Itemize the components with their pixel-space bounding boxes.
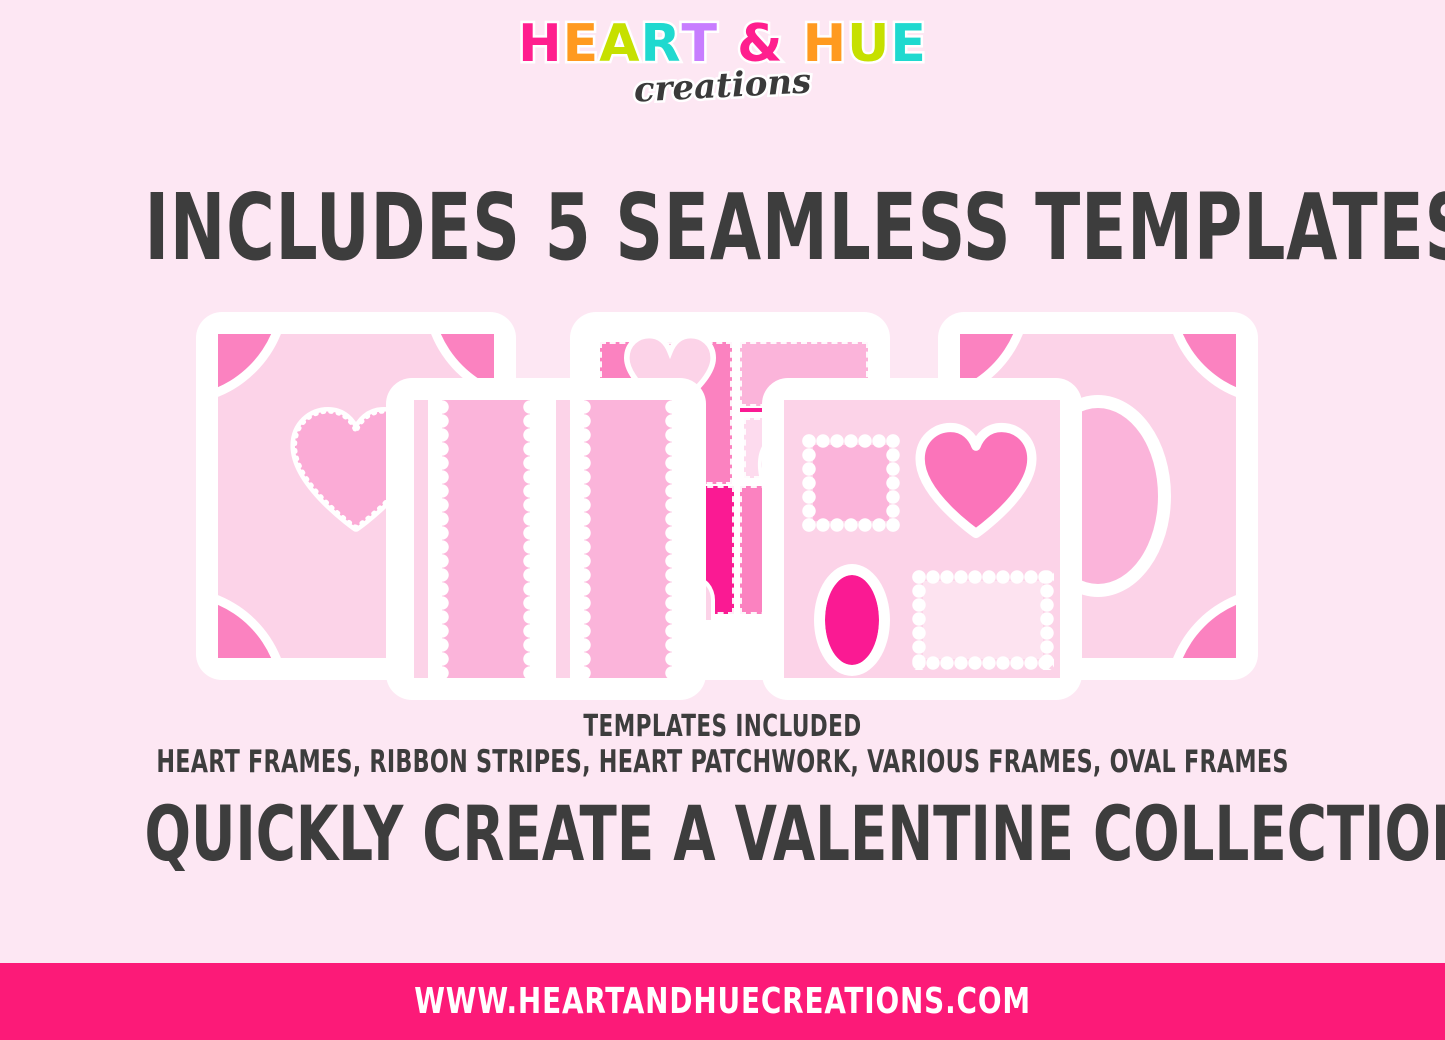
ribbon-stripe xyxy=(442,400,530,678)
call-to-action-text: QUICKLY CREATE A VALENTINE COLLECTION! xyxy=(145,796,1301,872)
templates-included-list: HEART FRAMES, RIBBON STRIPES, HEART PATC… xyxy=(145,747,1301,778)
footer-bar: WWW.HEARTANDHUECREATIONS.COM xyxy=(0,963,1445,1040)
poster-canvas: HEART & HUE creations INCLUDES 5 SEAMLES… xyxy=(0,0,1445,1040)
card-art-various-frames xyxy=(784,400,1060,678)
oval-scallop-ring xyxy=(814,564,890,676)
template-preview-group xyxy=(0,300,1445,700)
corner-shape xyxy=(1174,596,1236,658)
brand-letter-3: R xyxy=(640,18,681,70)
ribbon-stripe xyxy=(414,400,428,678)
corner-shape xyxy=(218,596,280,658)
preview-card-ribbon-stripes[interactable] xyxy=(386,378,706,700)
scallop-edge xyxy=(665,400,679,678)
card-art-ribbon-stripes xyxy=(408,400,684,678)
ribbon-stripe xyxy=(556,400,570,678)
brand-letter-1: E xyxy=(563,18,600,70)
brand-logo: HEART & HUE creations xyxy=(0,18,1445,106)
preview-card-various-frames[interactable] xyxy=(762,378,1082,700)
scallop-edge xyxy=(523,400,537,678)
brand-letter-5 xyxy=(718,18,737,70)
corner-shape xyxy=(1174,334,1236,396)
scalloped-heart-frame xyxy=(912,422,1040,540)
scalloped-square-frame xyxy=(802,434,900,532)
ribbon-stripe xyxy=(584,400,672,678)
brand-letter-0: H xyxy=(518,18,563,70)
brand-letter-4: T xyxy=(682,18,718,70)
page-title: INCLUDES 5 SEAMLESS TEMPLATES xyxy=(145,182,1301,274)
scalloped-rectangle-frame xyxy=(912,570,1054,670)
scallop-edge xyxy=(435,400,449,678)
scalloped-oval-frame xyxy=(814,564,890,676)
scallop-edge xyxy=(577,400,591,678)
brand-letter-2: A xyxy=(599,18,640,70)
corner-shape xyxy=(218,334,280,396)
templates-included-label: TEMPLATES INCLUDED xyxy=(145,712,1301,742)
website-url[interactable]: WWW.HEARTANDHUECREATIONS.COM xyxy=(414,981,1031,1022)
